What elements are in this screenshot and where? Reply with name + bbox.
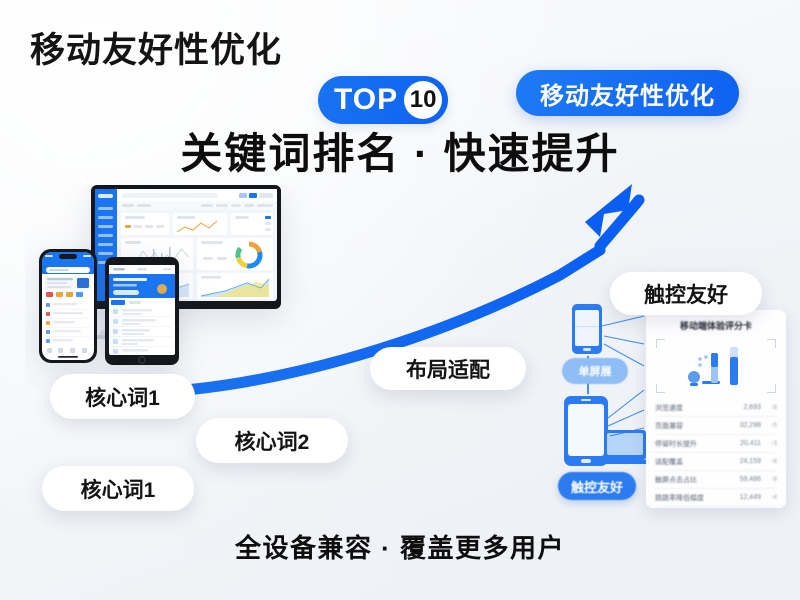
hero-bar-illustration	[656, 339, 776, 393]
score-card-hero	[656, 339, 776, 393]
score-row-value: 12,449	[735, 494, 761, 501]
header-row: 移动友好性优化 TOP 10 移动友好性优化	[0, 22, 800, 88]
page-title: 关键词排名 · 快速提升	[0, 120, 800, 181]
keyword-pill-1[interactable]: 核心词1	[50, 374, 195, 419]
score-card: 移动端体验评分卡	[646, 310, 786, 508]
touch-friendly-pill[interactable]: 触控友好	[610, 272, 762, 315]
layout-adapt-label: 布局适配	[406, 354, 490, 384]
kicker-text: 移动友好性优化	[30, 22, 282, 73]
score-row-value: 24,159	[735, 458, 761, 465]
score-card-row: 跳跳率降低幅度12,449↑4	[655, 489, 777, 507]
mobile-experience-diagram: 单屏展 触控友好 移动端体验评分卡	[548, 300, 788, 520]
score-card-row: 停留时长提升20,411↑3	[655, 435, 777, 453]
top-rank-word: TOP	[334, 83, 398, 117]
score-row-label: 适配覆盖	[655, 457, 735, 467]
score-row-label: 跳跳率降低幅度	[655, 493, 735, 503]
layout-adapt-pill[interactable]: 布局适配	[370, 347, 526, 390]
keyword-pill-3-label: 核心词1	[81, 474, 156, 504]
score-row-delta: ↑4	[761, 495, 777, 501]
score-card-title: 移动端体验评分卡	[646, 319, 786, 332]
score-card-row: 页面兼容32,298↑5	[655, 417, 777, 435]
keyword-pill-2-label: 核心词2	[235, 426, 310, 456]
diagram-phone-large-icon	[564, 396, 608, 466]
device-mockup-group	[25, 185, 345, 385]
score-card-row: 浏览速度2,693↑8	[655, 399, 777, 417]
phone-mockup	[39, 249, 97, 363]
diagram-node-top: 单屏展	[562, 358, 628, 384]
diagram-node-top-label: 单屏展	[579, 363, 612, 379]
score-card-rows: 浏览速度2,693↑8页面兼容32,298↑5停留时长提升20,411↑3适配覆…	[655, 399, 777, 507]
diagram-laptop-icon	[600, 430, 650, 464]
keyword-pill-3[interactable]: 核心词1	[42, 466, 194, 511]
score-row-delta: ↑3	[761, 441, 777, 447]
top-rank-badge: TOP 10	[318, 76, 448, 124]
score-card-row: 触屏点击占比59,486↑9	[655, 471, 777, 489]
score-row-delta: ↑6	[761, 459, 777, 465]
top-rank-number-circle: 10	[404, 81, 442, 119]
footer-caption: 全设备兼容 · 覆盖更多用户	[0, 528, 800, 565]
header-tag-label: 移动友好性优化	[540, 76, 715, 111]
score-row-value: 59,486	[735, 476, 761, 483]
top-rank-number: 10	[410, 86, 437, 114]
header-tag-pill: 移动友好性优化	[516, 70, 739, 116]
score-row-value: 20,411	[735, 440, 761, 447]
tablet-mockup	[105, 257, 179, 365]
score-row-label: 停留时长提升	[655, 439, 735, 449]
score-row-delta: ↑9	[761, 477, 777, 483]
diagram-node-bottom: 触控友好	[558, 472, 636, 500]
score-row-value: 2,693	[735, 404, 761, 411]
score-row-label: 触屏点击占比	[655, 475, 735, 485]
diagram-phone-small-icon	[572, 304, 602, 354]
keyword-pill-2[interactable]: 核心词2	[196, 418, 348, 463]
diagram-node-bottom-label: 触控友好	[571, 477, 623, 496]
score-row-delta: ↑8	[761, 405, 777, 411]
score-row-label: 页面兼容	[655, 421, 735, 431]
score-row-value: 32,298	[735, 422, 761, 429]
touch-friendly-label: 触控友好	[644, 279, 728, 309]
score-card-row: 适配覆盖24,159↑6	[655, 453, 777, 471]
top-rank-badge-inner: TOP 10	[318, 76, 448, 124]
keyword-pill-1-label: 核心词1	[85, 382, 160, 412]
score-row-delta: ↑5	[761, 423, 777, 429]
score-row-label: 浏览速度	[655, 403, 735, 413]
poster-canvas: 移动友好性优化 TOP 10 移动友好性优化 关键词排名 · 快速提升	[0, 0, 800, 600]
